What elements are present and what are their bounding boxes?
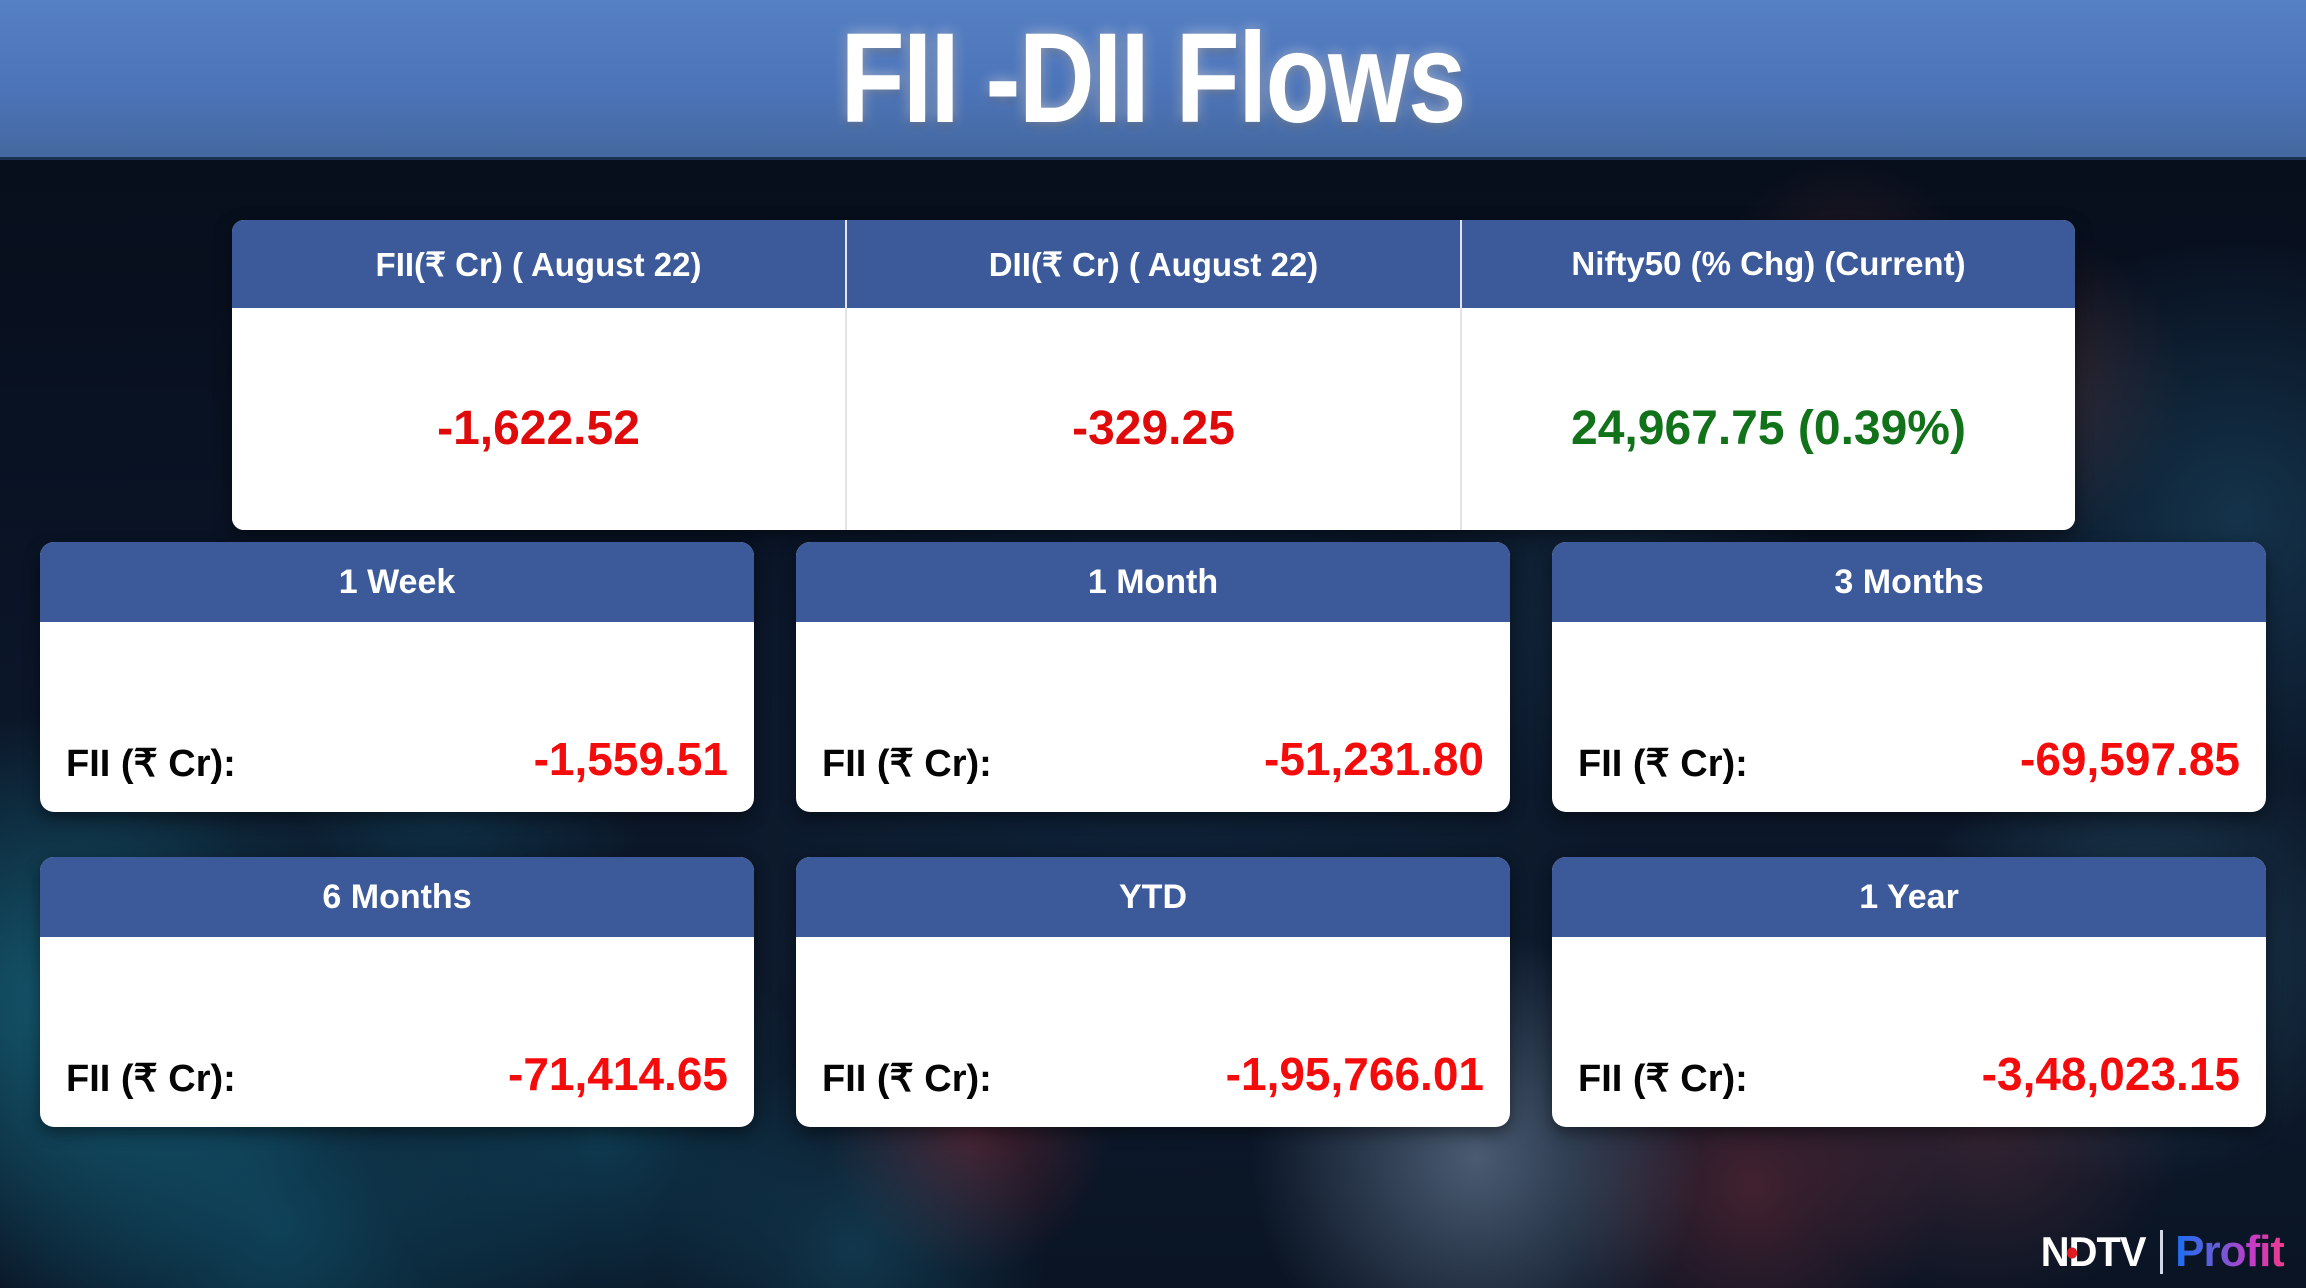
card-1-week: 1 Week FII (₹ Cr): -1,559.51 [40,542,754,812]
summary-header-dii: DII(₹ Cr) ( August 22) [847,220,1460,308]
card-value-3-months: -69,597.85 [2020,732,2240,786]
summary-header-nifty50: Nifty50 (% Chg) (Current) [1462,220,2075,308]
page-title: FII -DII Flows [841,15,1465,143]
card-label-3-months: FII (₹ Cr): [1578,741,1748,786]
card-value-1-year: -3,48,023.15 [1982,1047,2240,1101]
card-title-1-month: 1 Month [796,542,1510,622]
ndtv-text: NDTV [2041,1228,2146,1275]
logo-divider [2160,1230,2163,1274]
card-label-1-year: FII (₹ Cr): [1578,1056,1748,1101]
ndtv-wordmark: NDTV [2041,1228,2146,1276]
card-ytd: YTD FII (₹ Cr): -1,95,766.01 [796,857,1510,1127]
summary-value-dii: -329.25 [1072,401,1235,456]
card-title-1-year: 1 Year [1552,857,2266,937]
card-value-6-months: -71,414.65 [508,1047,728,1101]
summary-table: FII(₹ Cr) ( August 22) -1,622.52 DII(₹ C… [232,220,2075,530]
card-1-year: 1 Year FII (₹ Cr): -3,48,023.15 [1552,857,2266,1127]
summary-column-dii: DII(₹ Cr) ( August 22) -329.25 [847,220,1462,530]
card-label-6-months: FII (₹ Cr): [66,1056,236,1101]
card-body-1-week: FII (₹ Cr): -1,559.51 [40,622,754,812]
card-body-ytd: FII (₹ Cr): -1,95,766.01 [796,937,1510,1127]
card-6-months: 6 Months FII (₹ Cr): -71,414.65 [40,857,754,1127]
ndtv-profit-logo: NDTV Profit [2038,1226,2284,1278]
card-body-1-month: FII (₹ Cr): -51,231.80 [796,622,1510,812]
card-title-ytd: YTD [796,857,1510,937]
card-body-6-months: FII (₹ Cr): -71,414.65 [40,937,754,1127]
period-card-grid: 1 Week FII (₹ Cr): -1,559.51 1 Month FII… [40,542,2266,1127]
card-3-months: 3 Months FII (₹ Cr): -69,597.85 [1552,542,2266,812]
card-title-1-week: 1 Week [40,542,754,622]
card-label-1-month: FII (₹ Cr): [822,741,992,786]
card-1-month: 1 Month FII (₹ Cr): -51,231.80 [796,542,1510,812]
card-title-6-months: 6 Months [40,857,754,937]
card-body-3-months: FII (₹ Cr): -69,597.85 [1552,622,2266,812]
card-label-1-week: FII (₹ Cr): [66,741,236,786]
card-body-1-year: FII (₹ Cr): -3,48,023.15 [1552,937,2266,1127]
summary-column-fii: FII(₹ Cr) ( August 22) -1,622.52 [232,220,847,530]
card-value-1-week: -1,559.51 [534,732,728,786]
card-title-3-months: 3 Months [1552,542,2266,622]
profit-wordmark: Profit [2175,1227,2284,1277]
summary-header-fii: FII(₹ Cr) ( August 22) [232,220,845,308]
ndtv-red-dot-icon [2067,1247,2077,1258]
summary-body-nifty50: 24,967.75 (0.39%) [1462,308,2075,530]
card-value-ytd: -1,95,766.01 [1226,1047,1484,1101]
summary-body-dii: -329.25 [847,308,1460,530]
card-label-ytd: FII (₹ Cr): [822,1056,992,1101]
summary-value-fii: -1,622.52 [437,401,640,456]
summary-body-fii: -1,622.52 [232,308,845,530]
title-banner: FII -DII Flows [0,0,2306,160]
summary-value-nifty50: 24,967.75 (0.39%) [1571,401,1966,456]
card-value-1-month: -51,231.80 [1264,732,1484,786]
summary-column-nifty50: Nifty50 (% Chg) (Current) 24,967.75 (0.3… [1462,220,2075,530]
